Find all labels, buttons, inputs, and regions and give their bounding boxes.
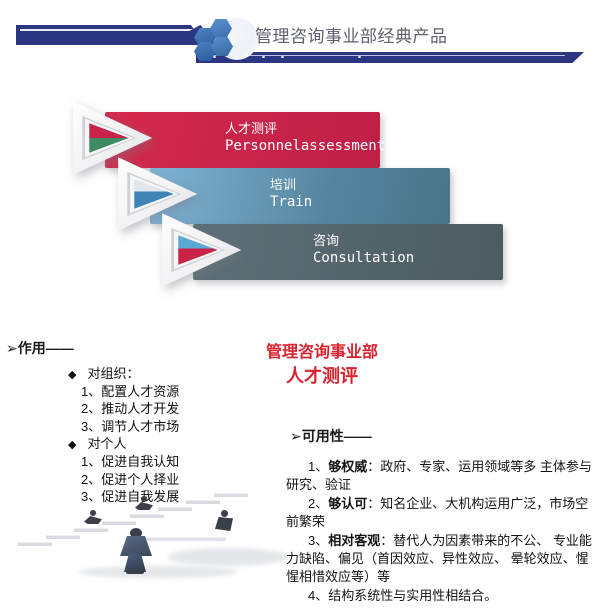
list-item-keyword: 相对客观 <box>328 533 380 548</box>
content-section: ➢作用—— ◆对组织： 1、配置人才资源 2、推动人才开发 3、调节人才市场 ◆… <box>0 330 601 614</box>
list-item-number: 3、 <box>308 533 328 548</box>
play-triangle-icon <box>157 210 243 290</box>
section-title-line2: 人才测评 <box>232 364 412 388</box>
list-item-keyword: 够权威 <box>328 459 367 474</box>
list-item-number: 4、 <box>308 588 328 603</box>
page-header: 管理咨询事业部经典产品 <box>0 0 601 78</box>
diamond-bullet-icon: ◆ <box>68 439 76 451</box>
page-title: 管理咨询事业部经典产品 <box>255 22 448 47</box>
right-column-heading: ➢可用性—— <box>290 426 598 446</box>
section-title-red: 管理咨询事业部 人才测评 <box>232 342 412 388</box>
header-bottom-bar-highlight <box>205 55 565 56</box>
list-item: 4、结构系统性与实用性相结合。 <box>286 587 598 605</box>
left-group-heading-text: 对个人 <box>87 436 126 451</box>
left-group-heading-text: 对组织： <box>87 366 139 381</box>
header-left-bar <box>16 25 206 45</box>
header-bar-dot <box>281 56 284 58</box>
banner-label-cn: 咨询 <box>313 230 339 249</box>
header-bottom-bar <box>196 52 584 63</box>
product-banner-group: 人才测评 Personnelassessment 培训 Train 咨询 Con… <box>0 86 601 298</box>
availability-list: 1、够权威：政府、专家、运用领域等多 主体参与研究、验证 2、够认可：知名企业、… <box>286 458 598 605</box>
list-item-keyword: 够认可 <box>328 496 367 511</box>
people-climbing-stairs-image <box>18 480 288 600</box>
list-item-number: 1、 <box>308 459 328 474</box>
banner-label-en: Train <box>270 194 312 210</box>
list-item: 2、够认可：知名企业、大机构运用广泛，市场空前繁荣 <box>286 495 598 531</box>
list-item: 1、促进自我认知 <box>81 453 286 471</box>
banner-label-en: Consultation <box>313 250 414 266</box>
banner-label-cn: 培训 <box>270 174 296 193</box>
diamond-bullet-icon: ◆ <box>68 369 76 381</box>
section-title-line1: 管理咨询事业部 <box>232 342 412 364</box>
header-left-bar-highlight <box>20 29 200 31</box>
list-item: 3、相对客观：替代人为因素带来的不公、 专业能力缺陷、偏见（首因效应、异性效应、… <box>286 532 598 586</box>
list-item-text: 结构系统性与实用性相结合。 <box>328 588 497 603</box>
banner-label-cn: 人才测评 <box>225 118 277 137</box>
right-column: ➢可用性—— 1、够权威：政府、专家、运用领域等多 主体参与研究、验证 2、够认… <box>286 426 598 606</box>
list-item: 1、够权威：政府、专家、运用领域等多 主体参与研究、验证 <box>286 458 598 494</box>
left-group-heading: ◆对个人 <box>68 435 286 453</box>
list-item-number: 2、 <box>308 496 328 511</box>
list-item: 3、调节人才市场 <box>81 418 286 436</box>
header-bar-dot <box>213 56 216 58</box>
list-item: 2、推动人才开发 <box>81 400 286 418</box>
banner-label-en: Personnelassessment <box>225 138 385 154</box>
header-bar-dot <box>262 56 265 58</box>
header-bar-dot <box>358 56 361 58</box>
